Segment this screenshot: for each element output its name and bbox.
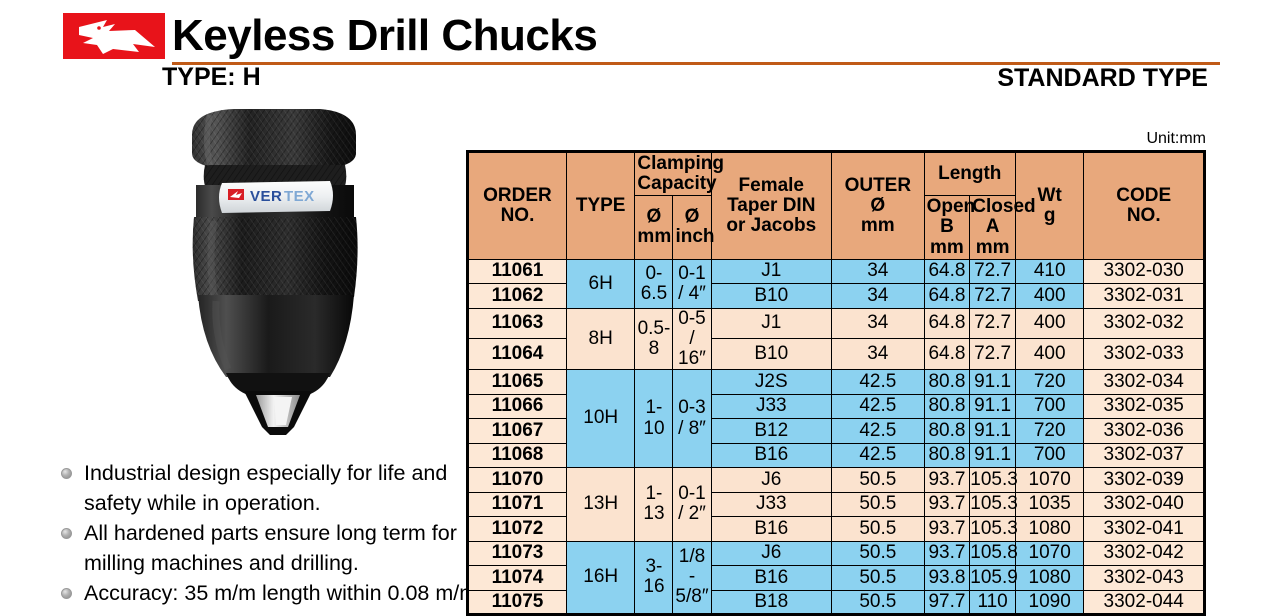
header-female-taper: Female Taper DIN or Jacobs	[711, 152, 832, 260]
cell-order-no: 11065	[468, 370, 567, 395]
cell-length-open: 64.8	[924, 284, 970, 309]
cell-order-no: 11066	[468, 394, 567, 419]
cell-dia-inch: 1/8 - 5/8″	[673, 541, 711, 615]
cell-length-open: 80.8	[924, 394, 970, 419]
unit-note: Unit:mm	[0, 130, 1206, 148]
cell-female-taper: J1	[711, 308, 832, 339]
header-length-open: Open B mm	[924, 196, 970, 259]
cell-outer-diameter: 42.5	[832, 419, 925, 444]
cell-order-no: 11062	[468, 284, 567, 309]
cell-code-no: 3302-031	[1084, 284, 1205, 309]
cell-female-taper: B16	[711, 443, 832, 468]
cell-code-no: 3302-039	[1084, 468, 1205, 493]
cell-order-no: 11067	[468, 419, 567, 444]
cell-length-open: 93.7	[924, 541, 970, 566]
cell-outer-diameter: 50.5	[832, 492, 925, 517]
cell-order-no: 11070	[468, 468, 567, 493]
cell-order-no: 11073	[468, 541, 567, 566]
cell-outer-diameter: 50.5	[832, 541, 925, 566]
cell-weight: 400	[1015, 339, 1083, 370]
feature-item: Accuracy: 35 m/m length within 0.08 m/m	[60, 578, 480, 608]
header-dia-inch: Ø inch	[673, 196, 711, 259]
cell-female-taper: B10	[711, 339, 832, 370]
cell-length-open: 80.8	[924, 443, 970, 468]
cell-code-no: 3302-042	[1084, 541, 1205, 566]
cell-dia-inch: 0-1 / 2″	[673, 468, 711, 542]
cell-length-closed: 72.7	[970, 339, 1016, 370]
cell-order-no: 11071	[468, 492, 567, 517]
bullet-icon	[61, 588, 72, 599]
feature-list: Industrial design especially for life an…	[60, 458, 480, 608]
cell-weight: 720	[1015, 370, 1083, 395]
vertex-eagle-logo	[63, 13, 165, 59]
cell-outer-diameter: 50.5	[832, 590, 925, 615]
table-head: ORDER NO. TYPE Clamping Capacity Female …	[468, 152, 1205, 260]
cell-dia-inch: 0-3 / 8″	[673, 370, 711, 468]
feature-text: All hardened parts ensure long term for …	[84, 521, 457, 575]
cell-order-no: 11068	[468, 443, 567, 468]
feature-item: Industrial design especially for life an…	[60, 458, 480, 518]
cell-dia-inch: 0-5 / 16″	[673, 308, 711, 369]
table-row: 1106510H1-100-3 / 8″J2S42.580.891.172033…	[468, 370, 1205, 395]
cell-female-taper: B16	[711, 566, 832, 591]
cell-female-taper: J33	[711, 492, 832, 517]
cell-weight: 700	[1015, 443, 1083, 468]
cell-outer-diameter: 34	[832, 259, 925, 284]
cell-outer-diameter: 42.5	[832, 370, 925, 395]
cell-dia-inch: 0-1 / 4″	[673, 259, 711, 308]
cell-length-closed: 110	[970, 590, 1016, 615]
cell-outer-diameter: 50.5	[832, 468, 925, 493]
cell-length-closed: 105.3	[970, 517, 1016, 542]
table-body: 110616H0-6.50-1 / 4″J13464.872.74103302-…	[468, 259, 1205, 614]
feature-text: Accuracy: 35 m/m length within 0.08 m/m	[84, 581, 477, 605]
feature-text: Industrial design especially for life an…	[84, 461, 447, 515]
cell-outer-diameter: 34	[832, 308, 925, 339]
cell-weight: 1035	[1015, 492, 1083, 517]
cell-length-open: 64.8	[924, 259, 970, 284]
cell-female-taper: J2S	[711, 370, 832, 395]
header-length: Length	[924, 152, 1015, 196]
cell-code-no: 3302-041	[1084, 517, 1205, 542]
cell-length-closed: 72.7	[970, 284, 1016, 309]
header-type: TYPE	[566, 152, 634, 260]
cell-dia-mm: 1-13	[635, 468, 673, 542]
cell-code-no: 3302-032	[1084, 308, 1205, 339]
cell-dia-mm: 1-10	[635, 370, 673, 468]
cell-outer-diameter: 50.5	[832, 566, 925, 591]
table-row: 1107013H1-130-1 / 2″J650.593.7105.310703…	[468, 468, 1205, 493]
cell-outer-diameter: 50.5	[832, 517, 925, 542]
cell-weight: 1070	[1015, 468, 1083, 493]
cell-type: 13H	[566, 468, 634, 542]
cell-type: 16H	[566, 541, 634, 615]
cell-length-closed: 91.1	[970, 394, 1016, 419]
bullet-icon	[61, 528, 72, 539]
cell-length-closed: 91.1	[970, 443, 1016, 468]
table-row: 1107316H3-161/8 - 5/8″J650.593.7105.8107…	[468, 541, 1205, 566]
header-outer-diameter: OUTER Ø mm	[832, 152, 925, 260]
cell-code-no: 3302-033	[1084, 339, 1205, 370]
svg-text:TEX: TEX	[284, 188, 315, 205]
table-row: 110638H0.5-80-5 / 16″J13464.872.74003302…	[468, 308, 1205, 339]
header-length-closed: Closed A mm	[970, 196, 1016, 259]
cell-outer-diameter: 42.5	[832, 443, 925, 468]
cell-order-no: 11075	[468, 590, 567, 615]
cell-outer-diameter: 34	[832, 339, 925, 370]
cell-length-closed: 105.8	[970, 541, 1016, 566]
cell-order-no: 11072	[468, 517, 567, 542]
cell-weight: 400	[1015, 308, 1083, 339]
cell-dia-mm: 3-16	[635, 541, 673, 615]
cell-code-no: 3302-036	[1084, 419, 1205, 444]
cell-female-taper: B10	[711, 284, 832, 309]
cell-code-no: 3302-040	[1084, 492, 1205, 517]
cell-female-taper: B16	[711, 517, 832, 542]
header-clamping-capacity: Clamping Capacity	[635, 152, 711, 196]
cell-dia-mm: 0-6.5	[635, 259, 673, 308]
keyless-drill-chuck-photo: VER TEX	[170, 105, 402, 450]
cell-female-taper: J1	[711, 259, 832, 284]
cell-order-no: 11063	[468, 308, 567, 339]
cell-length-open: 93.8	[924, 566, 970, 591]
cell-weight: 1090	[1015, 590, 1083, 615]
svg-text:VER: VER	[250, 188, 282, 205]
feature-item: All hardened parts ensure long term for …	[60, 518, 480, 578]
spec-table-container: ORDER NO. TYPE Clamping Capacity Female …	[466, 150, 1206, 616]
cell-weight: 410	[1015, 259, 1083, 284]
cell-weight: 700	[1015, 394, 1083, 419]
cell-type: 6H	[566, 259, 634, 308]
cell-weight: 1080	[1015, 517, 1083, 542]
header-dia-mm: Ø mm	[635, 196, 673, 259]
standard-type-label: STANDARD TYPE	[0, 64, 1208, 93]
cell-code-no: 3302-044	[1084, 590, 1205, 615]
cell-length-open: 64.8	[924, 339, 970, 370]
cell-outer-diameter: 34	[832, 284, 925, 309]
cell-order-no: 11064	[468, 339, 567, 370]
cell-length-closed: 72.7	[970, 308, 1016, 339]
bullet-icon	[61, 468, 72, 479]
cell-type: 8H	[566, 308, 634, 369]
cell-female-taper: B12	[711, 419, 832, 444]
cell-female-taper: J6	[711, 541, 832, 566]
page-header: Keyless Drill Chucks TYPE: H STANDARD TY…	[0, 0, 1271, 100]
cell-code-no: 3302-037	[1084, 443, 1205, 468]
cell-length-closed: 105.9	[970, 566, 1016, 591]
cell-length-closed: 91.1	[970, 370, 1016, 395]
cell-female-taper: B18	[711, 590, 832, 615]
header-order-no: ORDER NO.	[468, 152, 567, 260]
cell-weight: 400	[1015, 284, 1083, 309]
cell-length-closed: 105.3	[970, 492, 1016, 517]
spec-table: ORDER NO. TYPE Clamping Capacity Female …	[466, 150, 1206, 616]
cell-length-open: 93.7	[924, 492, 970, 517]
cell-code-no: 3302-034	[1084, 370, 1205, 395]
cell-code-no: 3302-035	[1084, 394, 1205, 419]
cell-weight: 1070	[1015, 541, 1083, 566]
cell-weight: 1080	[1015, 566, 1083, 591]
cell-code-no: 3302-030	[1084, 259, 1205, 284]
cell-length-open: 93.7	[924, 468, 970, 493]
cell-order-no: 11061	[468, 259, 567, 284]
page-title: Keyless Drill Chucks	[172, 12, 597, 60]
cell-outer-diameter: 42.5	[832, 394, 925, 419]
cell-length-open: 97.7	[924, 590, 970, 615]
cell-type: 10H	[566, 370, 634, 468]
cell-female-taper: J33	[711, 394, 832, 419]
cell-length-closed: 72.7	[970, 259, 1016, 284]
cell-length-closed: 91.1	[970, 419, 1016, 444]
cell-length-open: 93.7	[924, 517, 970, 542]
cell-dia-mm: 0.5-8	[635, 308, 673, 369]
cell-weight: 720	[1015, 419, 1083, 444]
cell-length-open: 80.8	[924, 370, 970, 395]
cell-length-open: 64.8	[924, 308, 970, 339]
cell-length-closed: 105.3	[970, 468, 1016, 493]
cell-length-open: 80.8	[924, 419, 970, 444]
cell-order-no: 11074	[468, 566, 567, 591]
header-code-no: CODE NO.	[1084, 152, 1205, 260]
table-header-row: ORDER NO. TYPE Clamping Capacity Female …	[468, 152, 1205, 196]
cell-code-no: 3302-043	[1084, 566, 1205, 591]
table-row: 110616H0-6.50-1 / 4″J13464.872.74103302-…	[468, 259, 1205, 284]
cell-female-taper: J6	[711, 468, 832, 493]
